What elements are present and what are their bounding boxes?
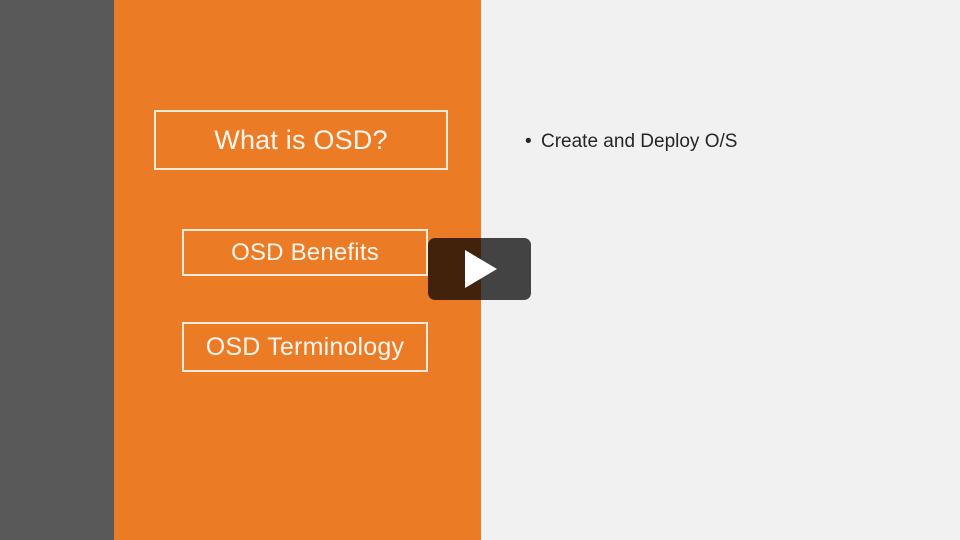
- nav-box-osd-terminology[interactable]: OSD Terminology: [182, 322, 428, 372]
- content-panel: [481, 0, 960, 540]
- nav-box-label-osd-terminology: OSD Terminology: [206, 335, 404, 360]
- bullet-marker-icon: •: [525, 128, 532, 156]
- left-sidebar-band: [0, 0, 114, 540]
- nav-box-label-osd-benefits: OSD Benefits: [231, 241, 379, 265]
- nav-box-what-is-osd[interactable]: What is OSD?: [154, 110, 448, 170]
- nav-box-label-what-is-osd: What is OSD?: [214, 127, 387, 154]
- slide-canvas: What is OSD? OSD Benefits OSD Terminolog…: [0, 0, 960, 540]
- list-item: • Create and Deploy O/S: [523, 128, 923, 156]
- video-play-button[interactable]: [428, 238, 531, 300]
- play-triangle-icon: [465, 250, 497, 288]
- bullet-text: Create and Deploy O/S: [541, 131, 737, 152]
- nav-box-osd-benefits[interactable]: OSD Benefits: [182, 229, 428, 276]
- content-bullet-list: • Create and Deploy O/S: [523, 128, 923, 156]
